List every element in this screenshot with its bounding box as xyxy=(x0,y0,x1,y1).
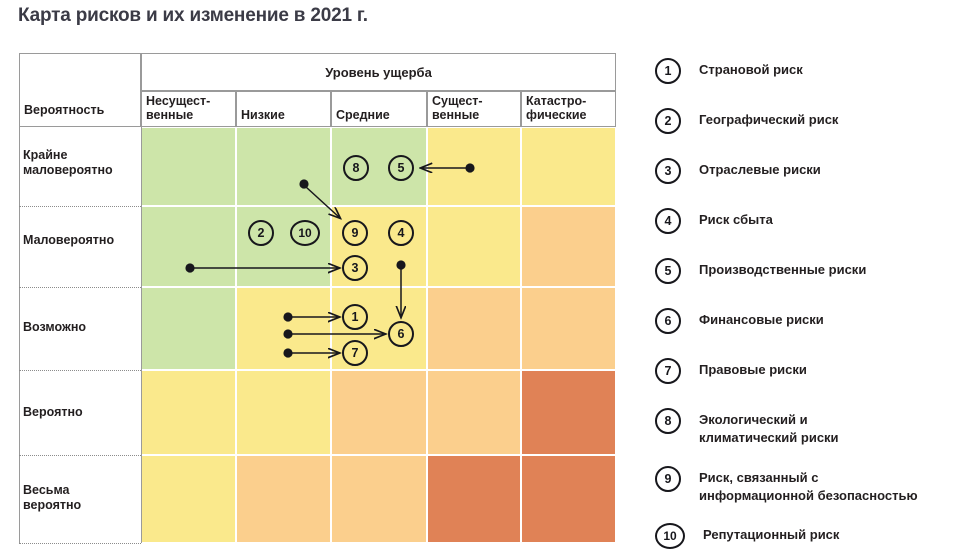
legend-item-3[interactable]: 3Отраслевые риски xyxy=(655,158,821,184)
risk-marker-4[interactable]: 4 xyxy=(388,220,414,246)
legend-label: Риск сбыта xyxy=(699,208,773,229)
risk-marker-5[interactable]: 5 xyxy=(388,155,414,181)
legend-item-6[interactable]: 6Финансовые риски xyxy=(655,308,824,334)
legend-item-7[interactable]: 7Правовые риски xyxy=(655,358,807,384)
legend-item-5[interactable]: 5Производственные риски xyxy=(655,258,866,284)
legend-marker-2: 2 xyxy=(655,108,681,134)
risk-marker-9[interactable]: 9 xyxy=(342,220,368,246)
legend-item-9[interactable]: 9Риск, связанный с информационной безопа… xyxy=(655,466,918,505)
risk-marker-7[interactable]: 7 xyxy=(342,340,368,366)
legend-marker-3: 3 xyxy=(655,158,681,184)
legend-item-8[interactable]: 8Экологический и климатический риски xyxy=(655,408,839,447)
legend-marker-8: 8 xyxy=(655,408,681,434)
risk-marker-3[interactable]: 3 xyxy=(342,255,368,281)
legend-label: Репутационный риск xyxy=(703,523,839,544)
risk-marker-2[interactable]: 2 xyxy=(248,220,274,246)
legend-marker-6: 6 xyxy=(655,308,681,334)
legend-marker-10: 10 xyxy=(655,523,685,549)
risk-marker-10[interactable]: 10 xyxy=(290,220,320,246)
legend-marker-4: 4 xyxy=(655,208,681,234)
risk-marker-1[interactable]: 1 xyxy=(342,304,368,330)
legend-label: Экологический и климатический риски xyxy=(699,408,839,447)
legend-marker-7: 7 xyxy=(655,358,681,384)
legend-marker-1: 1 xyxy=(655,58,681,84)
risk-marker-8[interactable]: 8 xyxy=(343,155,369,181)
legend-label: Географический риск xyxy=(699,108,838,129)
legend-label: Производственные риски xyxy=(699,258,866,279)
legend-label: Финансовые риски xyxy=(699,308,824,329)
legend-label: Страновой риск xyxy=(699,58,803,79)
legend-item-10[interactable]: 10Репутационный риск xyxy=(655,523,839,549)
legend-item-4[interactable]: 4Риск сбыта xyxy=(655,208,773,234)
legend-marker-5: 5 xyxy=(655,258,681,284)
legend-label: Риск, связанный с информационной безопас… xyxy=(699,466,918,505)
legend-marker-9: 9 xyxy=(655,466,681,492)
legend-label: Отраслевые риски xyxy=(699,158,821,179)
legend-item-1[interactable]: 1Страновой риск xyxy=(655,58,803,84)
risk-marker-6[interactable]: 6 xyxy=(388,321,414,347)
legend-item-2[interactable]: 2Географический риск xyxy=(655,108,838,134)
legend-label: Правовые риски xyxy=(699,358,807,379)
